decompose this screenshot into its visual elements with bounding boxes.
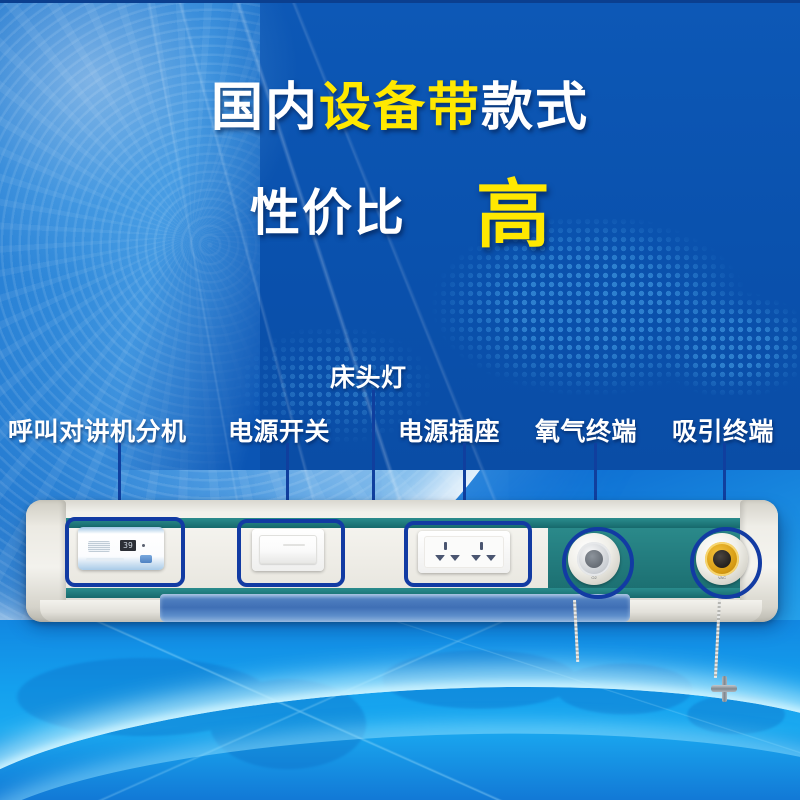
headline: 国内设备带款式: [0, 82, 800, 134]
promo-banner: 国内设备带款式 性价比高 呼叫对讲机分机 电源开关 床头灯 电源插座 氧气终端 …: [0, 0, 800, 800]
highlight-box-power-switch: [237, 519, 345, 587]
callout-label-oxygen: 氧气终端: [535, 412, 637, 448]
subheadline-text: 性价比: [250, 184, 406, 242]
highlight-circle-suction: [690, 527, 762, 599]
callout-label-power-switch: 电源开关: [228, 412, 330, 448]
highlight-circle-oxygen: [562, 527, 634, 599]
callout-label-power-socket: 电源插座: [398, 412, 500, 448]
headline-part1: 国内: [211, 78, 319, 138]
bed-lamp-diffuser: [160, 594, 630, 622]
pull-cord-handle[interactable]: [711, 676, 737, 702]
headline-part3: 款式: [481, 78, 589, 138]
subheadline: 性价比高: [0, 168, 800, 242]
highlight-box-intercom: [65, 517, 185, 587]
subheadline-emphasis: 高: [476, 172, 550, 258]
pull-handle-crossbar: [711, 685, 737, 692]
highlight-box-power-socket: [404, 521, 532, 587]
callout-label-bed-lamp: 床头灯: [330, 358, 407, 394]
headline-part2: 设备带: [319, 78, 481, 138]
top-edge-strip: [0, 0, 800, 3]
callout-label-intercom: 呼叫对讲机分机: [8, 412, 187, 448]
